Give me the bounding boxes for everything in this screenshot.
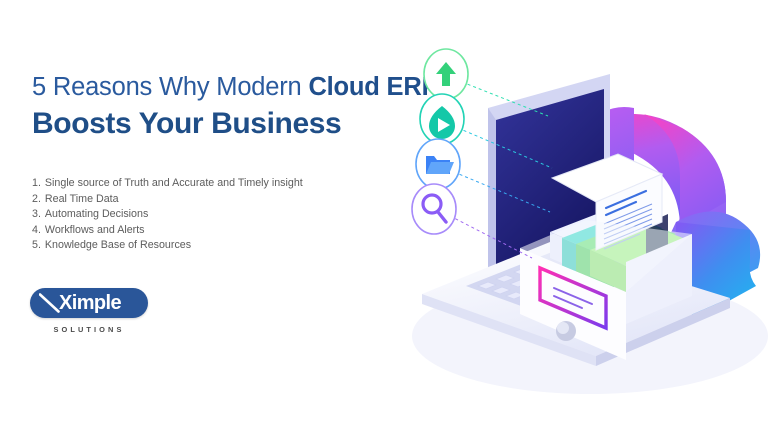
play-drop-icon[interactable] (420, 94, 464, 144)
list-item: 4. Workflows and Alerts (32, 223, 392, 239)
illustration-svg (400, 36, 768, 396)
list-item-number: 2. (32, 192, 41, 208)
drawer-knob-highlight (557, 322, 569, 334)
hero-illustration (400, 36, 768, 396)
headline-line-1: 5 Reasons Why Modern Cloud ERP (32, 72, 452, 102)
search-icon[interactable] (412, 184, 456, 234)
list-item-number: 1. (32, 176, 41, 192)
list-item: 2. Real Time Data (32, 192, 392, 208)
logo-wordmark: Ximple (57, 293, 121, 313)
list-item-label: Single source of Truth and Accurate and … (45, 176, 303, 192)
list-item: 5. Knowledge Base of Resources (32, 238, 392, 254)
poster-canvas: 5 Reasons Why Modern Cloud ERP Boosts Yo… (0, 0, 768, 432)
reasons-list: 1. Single source of Truth and Accurate a… (32, 176, 392, 254)
logo-x-slash-icon (39, 293, 60, 313)
headline-block: 5 Reasons Why Modern Cloud ERP Boosts Yo… (32, 72, 452, 143)
logo-tagline: SOLUTIONS (30, 325, 148, 334)
upload-arrow-icon[interactable] (424, 49, 468, 99)
list-item: 3. Automating Decisions (32, 207, 392, 223)
list-item-number: 5. (32, 238, 41, 254)
brand-logo[interactable]: Ximple SOLUTIONS (30, 288, 160, 334)
logo-pill: Ximple (30, 288, 148, 318)
list-item-label: Real Time Data (45, 192, 119, 208)
laptop-bezel-edge (488, 108, 496, 276)
list-item-number: 4. (32, 223, 41, 239)
list-item-label: Automating Decisions (45, 207, 148, 223)
folder-icon[interactable] (416, 139, 460, 189)
list-item: 1. Single source of Truth and Accurate a… (32, 176, 392, 192)
list-item-label: Workflows and Alerts (45, 223, 145, 239)
headline-line-1-plain: 5 Reasons Why Modern (32, 73, 302, 101)
headline-line-2: Boosts Your Business (32, 105, 452, 143)
list-item-number: 3. (32, 207, 41, 223)
list-item-label: Knowledge Base of Resources (45, 238, 191, 254)
